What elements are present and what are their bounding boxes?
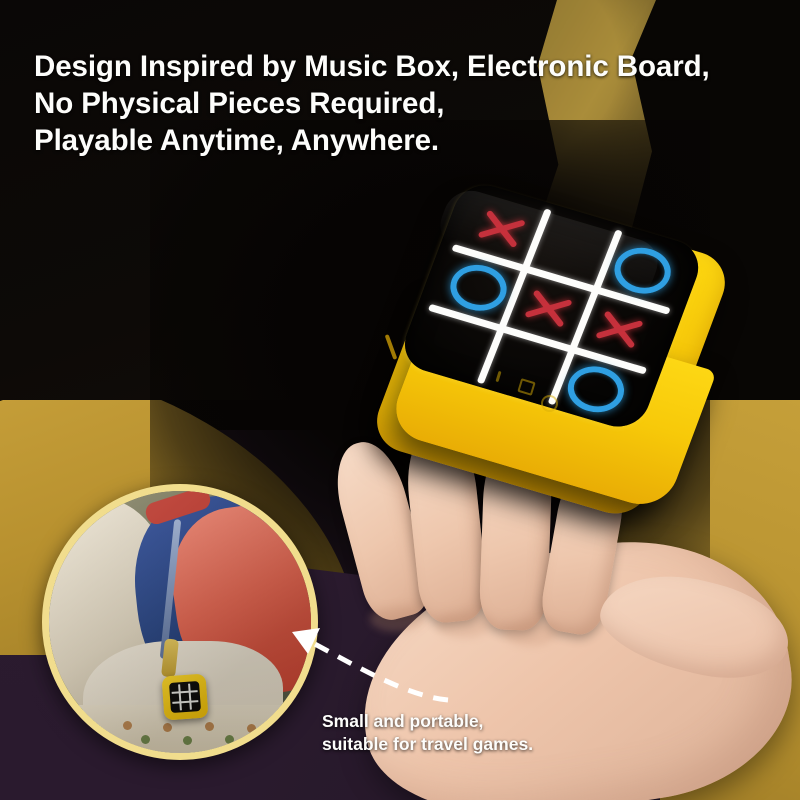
- o-mark-icon: [443, 258, 514, 317]
- product-marketing-image: Design Inspired by Music Box, Electronic…: [0, 0, 800, 800]
- caption: Small and portable, suitable for travel …: [322, 710, 533, 756]
- o-mark-icon: [561, 360, 632, 419]
- headline: Design Inspired by Music Box, Electronic…: [34, 48, 774, 159]
- headline-line-2: No Physical Pieces Required,: [34, 85, 774, 122]
- caption-line-2: suitable for travel games.: [322, 733, 533, 756]
- x-mark-icon: [519, 282, 579, 334]
- x-mark-icon: [472, 203, 532, 255]
- headline-line-1: Design Inspired by Music Box, Electronic…: [34, 48, 774, 85]
- dashed-arrow-line: [300, 636, 448, 700]
- callout-arrow: [196, 604, 456, 714]
- x-mark-icon: [590, 303, 650, 355]
- product-device: [391, 195, 714, 518]
- arrow-head-icon: [292, 628, 320, 654]
- headline-line-3: Playable Anytime, Anywhere.: [34, 122, 774, 159]
- o-mark-icon: [607, 241, 678, 300]
- knuckle-crease: [504, 620, 556, 646]
- caption-line-1: Small and portable,: [322, 710, 533, 733]
